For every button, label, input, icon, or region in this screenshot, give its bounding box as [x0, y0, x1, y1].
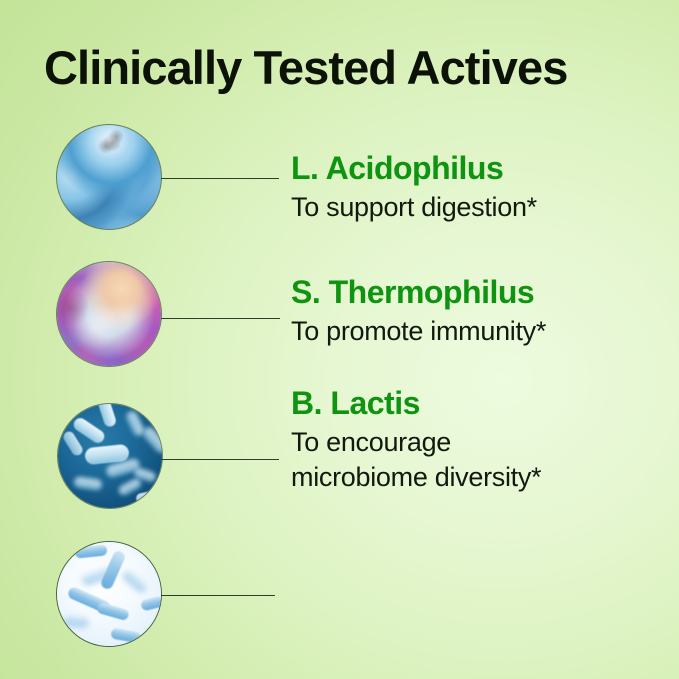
- bacteria-rod: [73, 476, 102, 491]
- bacteria-rod: [96, 602, 130, 621]
- bacteria-rod: [97, 404, 118, 428]
- microscopy-lactis-icon: [58, 404, 162, 508]
- bacteria-rod: [75, 544, 108, 558]
- infographic-panel: Clinically Tested Actives L. Acidophilus…: [0, 0, 679, 679]
- bacteria-rod: [140, 596, 161, 612]
- microscopy-texture-overlay: [57, 125, 161, 229]
- bacteria-rod: [121, 568, 150, 594]
- strain-desc-thermophilus: To promote immunity*: [291, 315, 546, 348]
- microscopy-texture-overlay: [57, 262, 161, 366]
- microscopy-acidophilus-icon: [57, 125, 161, 229]
- bacteria-rod: [141, 425, 162, 455]
- microscopy-thermophilus-icon: [57, 262, 161, 366]
- bacteria-rod: [61, 430, 84, 458]
- bacteria-rod: [135, 490, 159, 504]
- microscopy-unlabeled-icon: [57, 542, 161, 646]
- strain-desc-lactis-line1: To encourage: [291, 426, 541, 459]
- strain-name-acidophilus: L. Acidophilus: [291, 152, 537, 186]
- text-block-thermophilus: S. Thermophilus To promote immunity*: [291, 276, 546, 348]
- strain-desc-acidophilus: To support digestion*: [291, 191, 537, 224]
- connector-line-thermophilus: [161, 318, 280, 319]
- strain-name-lactis: B. Lactis: [291, 387, 541, 421]
- connector-line-acidophilus: [161, 178, 279, 179]
- text-block-lactis: B. Lactis To encourage microbiome divers…: [291, 387, 541, 494]
- connector-line-unlabeled: [161, 595, 275, 596]
- bacteria-rod: [62, 615, 89, 629]
- strain-desc-lactis-line2: microbiome diversity*: [291, 461, 541, 494]
- strain-name-thermophilus: S. Thermophilus: [291, 276, 546, 310]
- text-block-acidophilus: L. Acidophilus To support digestion*: [291, 152, 537, 224]
- connector-line-lactis: [161, 459, 279, 460]
- page-title: Clinically Tested Actives: [44, 40, 567, 95]
- bacteria-rod: [110, 627, 141, 643]
